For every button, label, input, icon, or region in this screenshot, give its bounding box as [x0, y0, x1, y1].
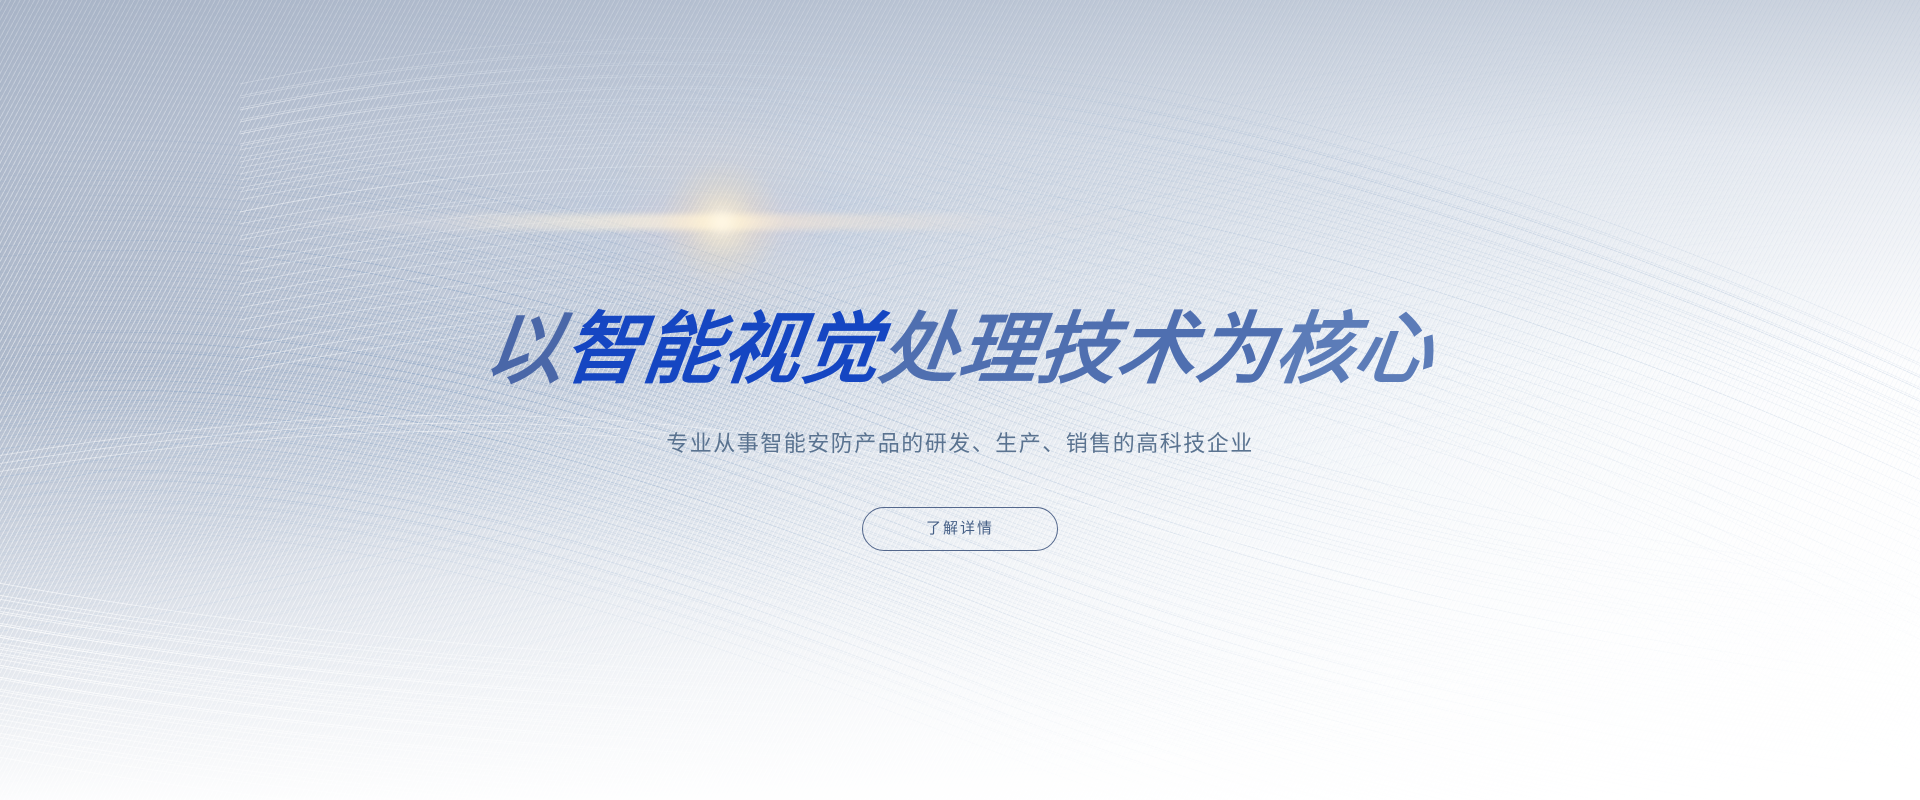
headline-segment-4: 处理技术为 — [876, 310, 1281, 388]
hero-subtitle: 专业从事智能安防产品的研发、生产、销售的高科技企业 — [0, 427, 1920, 460]
headline-segment-5: 核心 — [1271, 310, 1439, 388]
hero-cta-wrapper: 了解详情 — [0, 507, 1920, 551]
headline-segment-1: 以 — [481, 310, 570, 388]
learn-more-button[interactable]: 了解详情 — [862, 507, 1058, 551]
hero-headline: 以智能视觉处理技术为核心 — [0, 310, 1920, 388]
headline-segment-2: 智能 — [560, 310, 728, 388]
hero-banner: 以智能视觉处理技术为核心 专业从事智能安防产品的研发、生产、销售的高科技企业 了… — [0, 0, 1920, 800]
hero-content: 以智能视觉处理技术为核心 专业从事智能安防产品的研发、生产、销售的高科技企业 了… — [0, 0, 1920, 800]
headline-segment-3: 视觉 — [718, 310, 886, 388]
